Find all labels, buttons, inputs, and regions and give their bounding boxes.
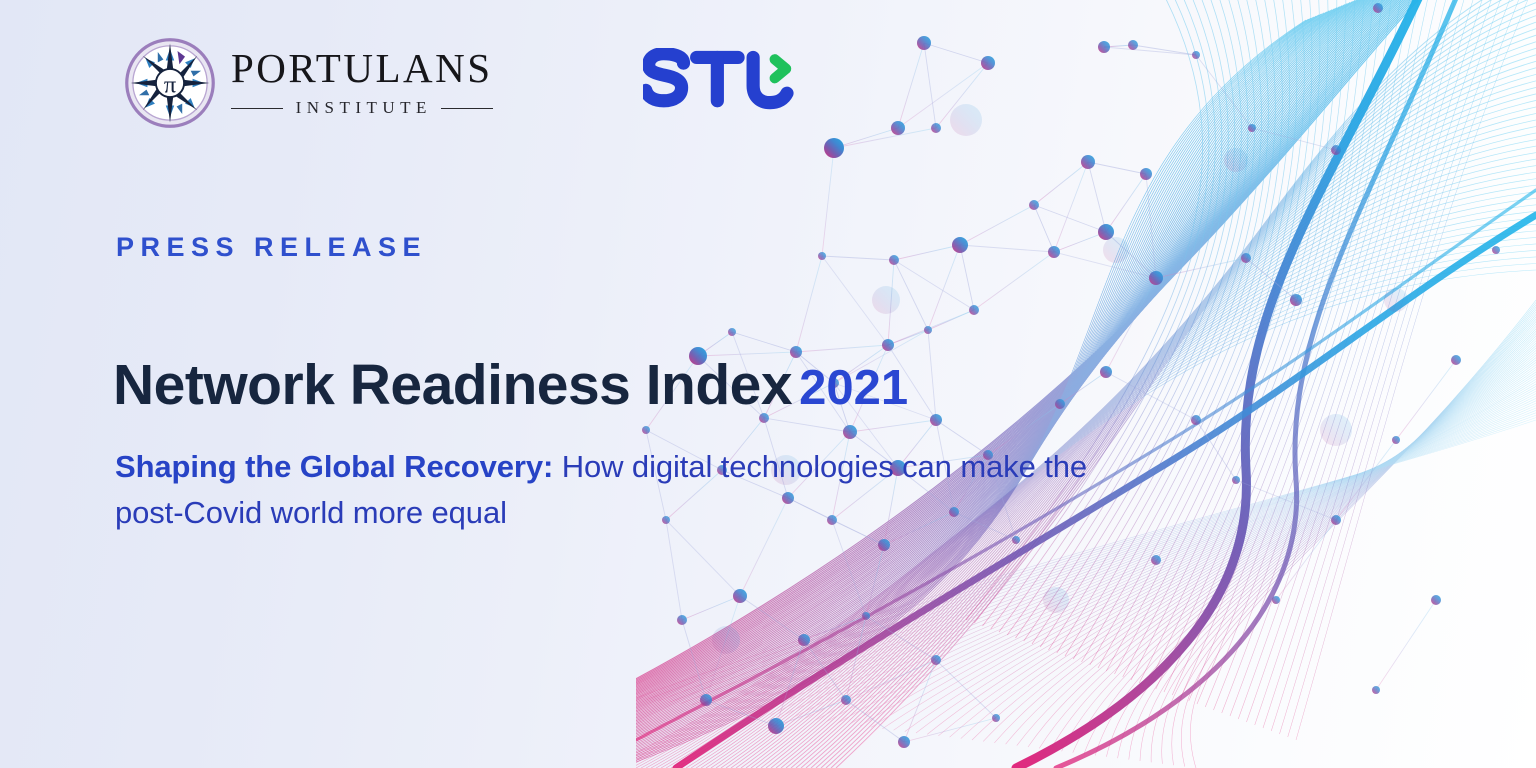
wordmark-rule-left <box>231 108 283 109</box>
wordmark-rule-right <box>441 108 493 109</box>
headline-main: Network Readiness Index <box>113 353 792 417</box>
portulans-compass-rose-icon: π <box>123 36 217 130</box>
eyebrow-press-release: PRESS RELEASE <box>116 232 427 263</box>
page-title: Network Readiness Index2021 <box>113 352 908 418</box>
portulans-institute-label: INSTITUTE <box>292 98 432 118</box>
svg-text:π: π <box>164 71 176 98</box>
logo-row: π PORTULANS INSTITUTE <box>123 36 803 130</box>
stl-logo <box>643 48 803 114</box>
stl-green-chevron-accent <box>774 59 785 78</box>
portulans-name: PORTULANS <box>231 48 493 89</box>
press-release-poster: π PORTULANS INSTITUTE <box>0 0 1536 768</box>
portulans-institute-logo: π PORTULANS INSTITUTE <box>123 36 493 130</box>
headline-year: 2021 <box>799 361 908 415</box>
portulans-wordmark: PORTULANS INSTITUTE <box>231 48 493 118</box>
subtitle: Shaping the Global Recovery: How digital… <box>115 444 1095 536</box>
subtitle-lede: Shaping the Global Recovery: <box>115 449 553 484</box>
